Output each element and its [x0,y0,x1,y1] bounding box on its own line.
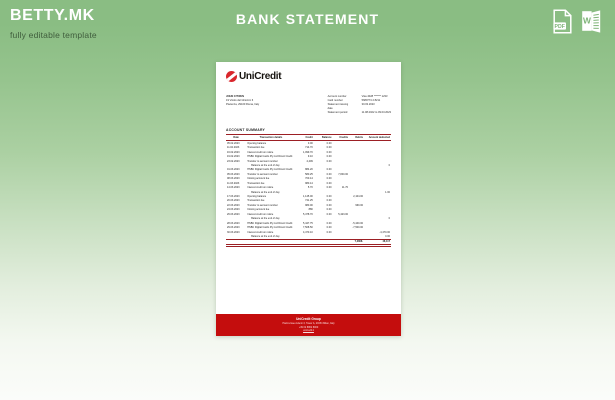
table-foot: 7,2808. 48,117 [226,240,391,245]
word-file-icon[interactable]: W [581,9,602,34]
format-icons: PDF W [552,9,602,34]
section-title-account-summary: ACCOUNT SUMMARY [226,128,391,132]
footer-website[interactable]: unicredit.it [303,329,314,333]
cell-transaction-details: HSBC Digital Cards Pty Ltd Direct Credit [246,226,296,230]
document-footer: UniCredit Group Piazza Gae Aulenti 3, To… [216,314,401,336]
meta-value: 11.08.2022 to 09.03.2023 [362,111,391,115]
pdf-file-icon[interactable]: PDF [552,9,573,34]
table-total-row: 7,2808. 48,117 [226,240,391,245]
page-title: BANK STATEMENT [0,11,615,27]
cell-transaction-details: HSBC Digital Cards Pty Ltd Direct Credit [246,221,296,225]
table-body: 05.02.2023Opening balance0.000.0011.02.2… [226,141,391,240]
total-credits [333,240,350,245]
unicredit-mark-icon [226,71,237,82]
meta-label: Statement issuing date [328,103,353,111]
meta-row: Statement period11.08.2022 to 09.03.2023 [328,111,391,115]
total-label [246,240,296,245]
recipient-address-line-2: Piacenza, 29100 Roma, Italy [226,103,259,107]
total-amount-deducted: 48,117 [364,240,391,245]
svg-text:PDF: PDF [555,24,565,30]
total-balance [314,240,333,245]
meta-label: Statement period [328,111,353,115]
cell-transaction-details: HSBC Digital Cards Pty Ltd Direct Credit [246,155,296,159]
unicredit-logo: UniCredit [226,71,391,82]
brand-tagline: fully editable template [10,31,97,40]
table-bottom-rule [226,246,391,247]
meta-value: 30.03.2023 [362,103,375,111]
account-summary-table: Date Transaction details Credit Balance … [226,134,391,245]
total-debits: 7,2808. [349,240,364,245]
meta-row: Statement issuing date30.03.2023 [328,103,391,111]
statement-document-preview[interactable]: UniCredit JOHN CITIZEN 19 Vicolo del Ghi… [216,62,401,336]
total-credit [296,240,314,245]
cell-transaction-details: HSBC Digital Cards Pty Ltd Direct Credit [246,168,296,172]
svg-text:W: W [583,16,591,26]
statement-header: JOHN CITIZEN 19 Vicolo del Ghiozzo 6 Pia… [226,95,391,115]
unicredit-logo-text: UniCredit [239,72,281,82]
statement-meta: Account numberVisa 4028 ******* 1233 Car… [328,95,391,115]
document-body: UniCredit JOHN CITIZEN 19 Vicolo del Ghi… [216,62,401,247]
recipient-address: JOHN CITIZEN 19 Vicolo del Ghiozzo 6 Pia… [226,95,259,115]
screenshot-stage: BETTY.MK fully editable template BANK ST… [0,0,615,400]
